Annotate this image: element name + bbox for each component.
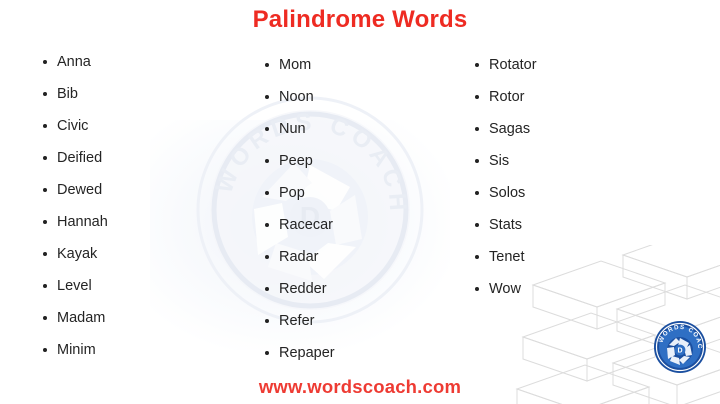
list-item: Deified	[43, 142, 243, 174]
word-label: Sis	[489, 153, 509, 169]
word-column-1: Anna Bib Civic Deified Dewed Hannah	[43, 44, 243, 366]
list-item: Anna	[43, 46, 243, 78]
list-item: Peep	[265, 145, 465, 177]
word-label: Solos	[489, 185, 525, 201]
bullet-icon	[43, 252, 47, 256]
list-item: Solos	[475, 177, 675, 209]
word-label: Nun	[279, 121, 306, 137]
list-item: Sagas	[475, 113, 675, 145]
word-label: Madam	[57, 310, 105, 326]
bullet-icon	[265, 223, 269, 227]
word-label: Rotator	[489, 57, 537, 73]
list-item: Racecar	[265, 209, 465, 241]
list-item: Bib	[43, 78, 243, 110]
bullet-icon	[43, 220, 47, 224]
bullet-icon	[265, 287, 269, 291]
list-item: Dewed	[43, 174, 243, 206]
list-item: Rotor	[475, 81, 675, 113]
word-column-3: Rotator Rotor Sagas Sis Solos Stats	[475, 44, 675, 305]
bullet-icon	[265, 127, 269, 131]
bullet-icon	[43, 156, 47, 160]
word-label: Racecar	[279, 217, 333, 233]
word-label: Rotor	[489, 89, 524, 105]
bullet-icon	[265, 63, 269, 67]
word-label: Kayak	[57, 246, 97, 262]
list-item: Level	[43, 270, 243, 302]
word-label: Pop	[279, 185, 305, 201]
word-label: Deified	[57, 150, 102, 166]
list-item: Hannah	[43, 206, 243, 238]
bullet-icon	[265, 159, 269, 163]
list-item: Kayak	[43, 238, 243, 270]
bullet-icon	[475, 287, 479, 291]
bullet-icon	[43, 124, 47, 128]
bullet-icon	[43, 316, 47, 320]
list-item: Refer	[265, 305, 465, 337]
bullet-icon	[475, 95, 479, 99]
word-label: Repaper	[279, 345, 335, 361]
word-columns: Anna Bib Civic Deified Dewed Hannah	[0, 44, 720, 364]
list-item: Pop	[265, 177, 465, 209]
list-item: Minim	[43, 334, 243, 366]
list-item: Nun	[265, 113, 465, 145]
bullet-icon	[43, 284, 47, 288]
word-label: Stats	[489, 217, 522, 233]
word-label: Hannah	[57, 214, 108, 230]
bullet-icon	[265, 255, 269, 259]
list-item: Civic	[43, 110, 243, 142]
bullet-icon	[475, 255, 479, 259]
bullet-icon	[43, 188, 47, 192]
word-label: Civic	[57, 118, 88, 134]
word-column-2: Mom Noon Nun Peep Pop Racecar	[265, 44, 465, 369]
wordscoach-logo-badge[interactable]: WORDS COACH D	[653, 320, 707, 374]
list-item: Tenet	[475, 241, 675, 273]
word-label: Radar	[279, 249, 319, 265]
bullet-icon	[265, 351, 269, 355]
word-label: Mom	[279, 57, 311, 73]
list-item: Stats	[475, 209, 675, 241]
word-label: Bib	[57, 86, 78, 102]
palindrome-words-infographic: WORDS COACH D	[0, 0, 720, 404]
bullet-icon	[265, 319, 269, 323]
page-title: Palindrome Words	[0, 6, 720, 34]
bullet-icon	[265, 191, 269, 195]
list-item: Noon	[265, 81, 465, 113]
footer-url-text: www.wordscoach.com	[259, 376, 461, 397]
list-item: Redder	[265, 273, 465, 305]
bullet-icon	[43, 60, 47, 64]
word-label: Level	[57, 278, 92, 294]
list-item: Madam	[43, 302, 243, 334]
bullet-icon	[43, 92, 47, 96]
word-label: Redder	[279, 281, 327, 297]
bullet-icon	[475, 191, 479, 195]
word-label: Sagas	[489, 121, 530, 137]
word-label: Refer	[279, 313, 314, 329]
bullet-icon	[265, 95, 269, 99]
word-label: Minim	[57, 342, 96, 358]
bullet-icon	[475, 63, 479, 67]
list-item: Rotator	[475, 49, 675, 81]
word-label: Anna	[57, 54, 91, 70]
list-item: Mom	[265, 49, 465, 81]
footer-website-url[interactable]: www.wordscoach.com	[0, 376, 720, 398]
bullet-icon	[475, 223, 479, 227]
page-title-text: Palindrome Words	[253, 6, 468, 33]
list-item: Repaper	[265, 337, 465, 369]
list-item: Radar	[265, 241, 465, 273]
bullet-icon	[475, 127, 479, 131]
list-item: Sis	[475, 145, 675, 177]
bullet-icon	[475, 159, 479, 163]
word-label: Tenet	[489, 249, 524, 265]
word-label: Dewed	[57, 182, 102, 198]
list-item: Wow	[475, 273, 675, 305]
bullet-icon	[43, 348, 47, 352]
badge-center-letter: D	[677, 347, 682, 354]
word-label: Wow	[489, 281, 521, 297]
word-label: Noon	[279, 89, 314, 105]
word-label: Peep	[279, 153, 313, 169]
